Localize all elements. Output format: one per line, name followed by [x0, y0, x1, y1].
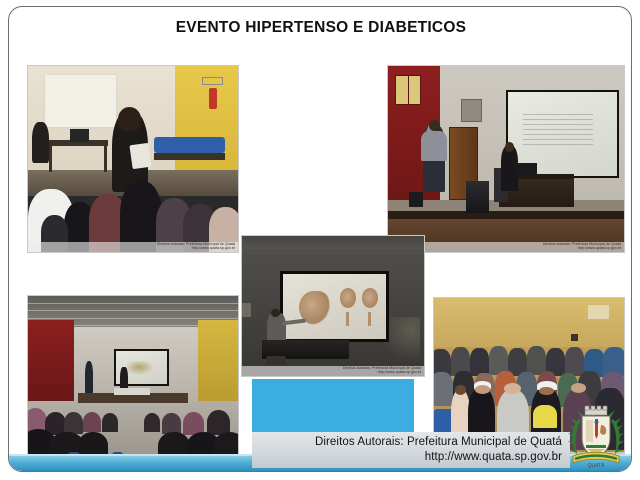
front-table: [114, 388, 150, 395]
photo-top-right-scene: [388, 66, 624, 252]
head: [539, 387, 554, 395]
presenter-head: [429, 120, 440, 131]
ceiling: [242, 236, 424, 249]
copyright-url: http://www.quata.sp.gov.br: [252, 450, 562, 465]
slide-diagram-stem: [368, 312, 371, 326]
slide-text-lines: [523, 114, 593, 147]
photo-center-scene: [242, 236, 424, 376]
svg-text:QUATÁ: QUATÁ: [588, 462, 606, 469]
audience-member: [83, 412, 102, 432]
quata-coat-of-arms-icon: QUATÁ: [565, 405, 627, 471]
audience-member: [162, 413, 181, 433]
audience-member: [433, 372, 453, 406]
extinguisher-sign: [202, 77, 223, 84]
photo-watermark: Direitos Autorais: Prefeitura Municipal …: [28, 242, 238, 252]
copyright-line-1: Direitos Autorais: Prefeitura Municipal …: [252, 432, 562, 450]
photo-watermark: Direitos Autorais: Prefeitura Municipal …: [242, 366, 424, 376]
slide-card: EVENTO HIPERTENSO E DIABETICOS: [8, 6, 632, 472]
blue-bench-chairs: [154, 137, 225, 154]
projection-screen: [283, 274, 386, 339]
side-object: [242, 303, 251, 317]
watermark-line-2: http://www.quata.sp.gov.br: [28, 247, 235, 251]
laptop: [70, 129, 89, 142]
audience-member: [470, 348, 489, 376]
speaker-amplifier: [466, 181, 490, 213]
photo-bottom-left-scene: [28, 296, 238, 466]
audience-member: [102, 413, 119, 432]
projection-screen: [45, 75, 116, 127]
photo-center: Direitos Autorais: Prefeitura Municipal …: [241, 235, 425, 377]
stage-edge: [388, 211, 624, 218]
copyright-caption: Direitos Autorais: Prefeitura Municipal …: [252, 432, 570, 468]
wall-panel: [461, 99, 482, 121]
wall-yellow: [198, 320, 238, 408]
wall-red: [28, 320, 74, 408]
equipment-box: [409, 192, 423, 207]
slide-image: [127, 361, 153, 376]
laptop: [515, 163, 536, 176]
seated-person: [32, 122, 49, 163]
watermark-line-2: http://www.quata.sp.gov.br: [242, 371, 421, 375]
slide-organ-diagram: [362, 288, 379, 308]
audience-member: [144, 413, 161, 432]
table-leg: [49, 146, 52, 172]
speaker-papers: [129, 143, 151, 170]
head: [571, 383, 586, 393]
child-head: [455, 385, 466, 395]
photo-top-left-scene: [28, 66, 238, 252]
slide-organ-diagram: [340, 288, 357, 308]
window: [395, 75, 421, 105]
page-title: EVENTO HIPERTENSO E DIABETICOS: [9, 19, 632, 37]
fire-extinguisher-icon: [209, 88, 217, 108]
wall-panel: [588, 305, 609, 320]
standing-person: [85, 361, 93, 393]
audience-member: [64, 412, 83, 434]
head: [504, 383, 521, 394]
projection-screen-frame: [280, 271, 389, 342]
speaker-hair: [118, 107, 141, 131]
photo-top-right: Direitos Autorais: Prefeitura Municipal …: [387, 65, 625, 253]
projector: [266, 356, 286, 364]
audience-member: [565, 347, 584, 376]
audience-member-yellow-shirt: [533, 405, 558, 429]
head: [475, 385, 490, 393]
slide-diagram-stem: [346, 312, 349, 326]
photo-bottom-left: Direitos Autorais: Prefeitura Municipal …: [27, 295, 239, 467]
photo-top-left: Direitos Autorais: Prefeitura Municipal …: [27, 65, 239, 253]
table-leg: [104, 146, 107, 172]
accent-color-block: [252, 379, 414, 432]
light-switch: [571, 334, 579, 341]
